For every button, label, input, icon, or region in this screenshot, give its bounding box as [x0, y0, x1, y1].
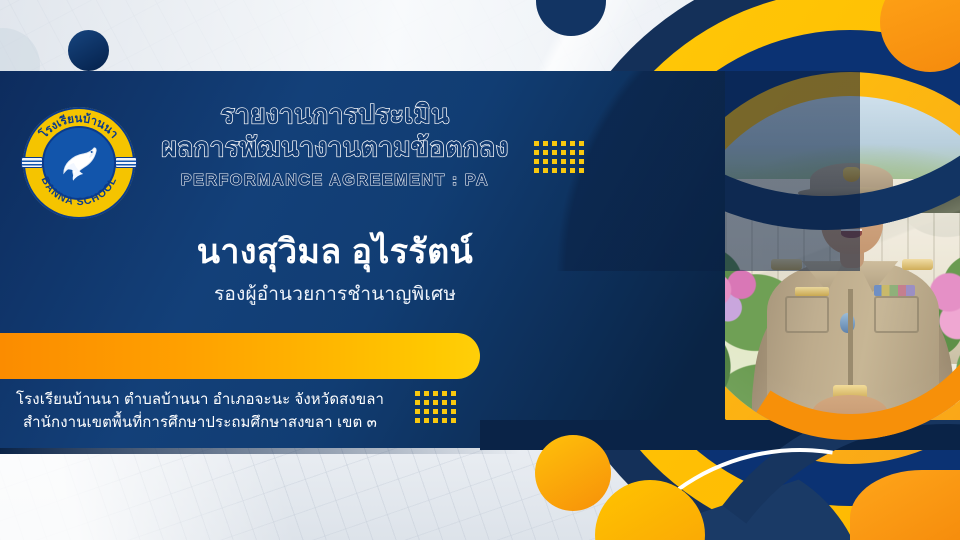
- dot: [424, 409, 429, 414]
- dot: [543, 150, 548, 155]
- logo-book-left-icon: [21, 157, 43, 168]
- decorative-gradient-bar: [0, 333, 480, 379]
- dot: [442, 418, 447, 423]
- dot: [415, 409, 420, 414]
- school-logo: โรงเรียนบ้านนา BANNA SCHOOL: [23, 107, 135, 219]
- dot: [570, 159, 575, 164]
- dot: [424, 400, 429, 405]
- content-panel-edge: [0, 448, 520, 454]
- person-name: นางสุวิมล อุไรรัตน์: [30, 232, 640, 273]
- person-name-block: นางสุวิมล อุไรรัตน์ รองผู้อำนวยการชำนาญพ…: [30, 232, 640, 309]
- dot: [561, 141, 566, 146]
- dot: [451, 409, 456, 414]
- dot: [415, 418, 420, 423]
- dot: [424, 391, 429, 396]
- decorative-navy-dot: [68, 30, 109, 71]
- headline-line-2: ผลการพัฒนางานตามข้อตกลง: [150, 131, 520, 164]
- decorative-dot-grid-title: [532, 139, 594, 175]
- dot: [433, 400, 438, 405]
- dot: [415, 391, 420, 396]
- dot: [579, 141, 584, 146]
- decorative-dot-grid-footer: [413, 389, 466, 425]
- dot: [552, 141, 557, 146]
- dot: [442, 409, 447, 414]
- dot: [433, 409, 438, 414]
- dot: [570, 168, 575, 173]
- dot: [579, 150, 584, 155]
- dot: [543, 141, 548, 146]
- dot: [442, 391, 447, 396]
- dot: [433, 391, 438, 396]
- footer-block: โรงเรียนบ้านนา ตำบลบ้านนา อำเภอจะนะ จังห…: [0, 389, 400, 435]
- dot: [451, 400, 456, 405]
- dot: [433, 418, 438, 423]
- dot: [543, 168, 548, 173]
- dot: [534, 168, 539, 173]
- dot: [543, 159, 548, 164]
- headline-block: รายงานการประเมิน ผลการพัฒนางานตามข้อตกลง…: [150, 98, 520, 190]
- dot: [552, 168, 557, 173]
- dot: [579, 168, 584, 173]
- dot: [442, 400, 447, 405]
- dot: [552, 159, 557, 164]
- dot: [552, 150, 557, 155]
- footer-line-2: สำนักงานเขตพื้นที่การศึกษาประถมศึกษาสงขล…: [0, 412, 400, 435]
- person-role: รองผู้อำนวยการชำนาญพิเศษ: [30, 279, 640, 309]
- dot: [451, 391, 456, 396]
- dot: [534, 150, 539, 155]
- logo-book-right-icon: [115, 157, 137, 168]
- dove-icon: [52, 136, 106, 190]
- dot: [561, 159, 566, 164]
- footer-line-1: โรงเรียนบ้านนา ตำบลบ้านนา อำเภอจะนะ จังห…: [0, 389, 400, 412]
- dot: [534, 141, 539, 146]
- dot: [570, 141, 575, 146]
- dot: [579, 159, 584, 164]
- dot: [561, 150, 566, 155]
- dot: [570, 150, 575, 155]
- dot: [424, 418, 429, 423]
- headline-english: PERFORMANCE AGREEMENT : PA: [150, 172, 520, 190]
- dot: [415, 400, 420, 405]
- dot: [561, 168, 566, 173]
- headline-line-1: รายงานการประเมิน: [150, 98, 520, 131]
- decorative-orange-circle-1: [535, 435, 611, 511]
- dot: [451, 418, 456, 423]
- dot: [534, 159, 539, 164]
